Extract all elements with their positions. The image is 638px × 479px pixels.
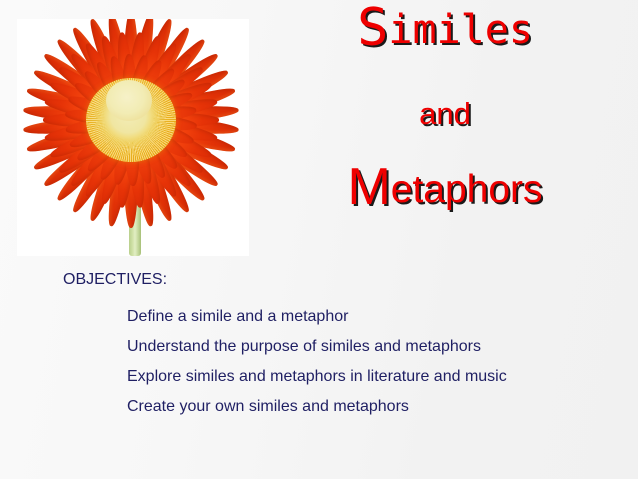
objectives-heading: OBJECTIVES: bbox=[63, 270, 623, 290]
objective-item: Define a simile and a metaphor bbox=[63, 302, 623, 332]
title-similes-rest: imiles bbox=[388, 7, 533, 53]
objective-item: Understand the purpose of similes and me… bbox=[63, 332, 623, 362]
objectives-section: OBJECTIVES: Define a simile and a metaph… bbox=[63, 270, 623, 422]
flower-disc-core bbox=[106, 80, 152, 121]
flower-illustration bbox=[17, 19, 249, 256]
title-line-and: and bbox=[252, 98, 638, 129]
slide-title: Similes and Metaphors bbox=[252, 0, 638, 232]
title-similes-capital: S bbox=[357, 0, 388, 58]
objective-item: Create your own similes and metaphors bbox=[63, 392, 623, 422]
title-metaphors-rest: etaphors bbox=[391, 168, 543, 211]
objective-item: Explore similes and metaphors in literat… bbox=[63, 362, 623, 392]
slide-canvas: Similes and Metaphors OBJECTIVES: Define… bbox=[0, 0, 638, 479]
flower-image bbox=[17, 19, 249, 256]
title-metaphors-capital: M bbox=[347, 158, 390, 216]
objectives-list: Define a simile and a metaphor Understan… bbox=[63, 302, 623, 422]
flower-disc bbox=[86, 78, 176, 162]
title-line-similes: Similes bbox=[252, 2, 638, 54]
title-line-metaphors: Metaphors bbox=[252, 161, 638, 213]
